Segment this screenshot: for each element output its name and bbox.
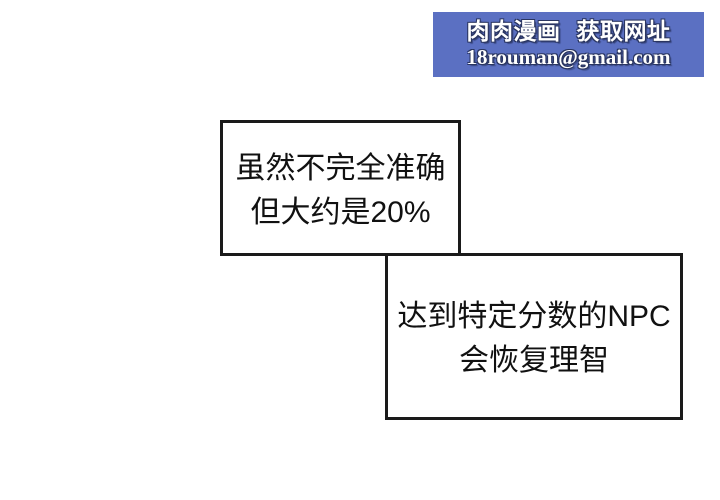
speech-bubble-1-line-1: 虽然不完全准确 [236, 147, 446, 191]
watermark-email: 18rouman@gmail.com [466, 45, 670, 70]
speech-bubble-1-line-2: 但大约是20% [250, 191, 430, 235]
comic-panel: 虽然不完全准确 但大约是20% 达到特定分数的NPC 会恢复理智 肉肉漫画 获取… [0, 0, 720, 500]
speech-bubble-2-line-1: 达到特定分数的NPC [397, 295, 670, 339]
watermark-title-left: 肉肉漫画 [467, 18, 561, 45]
speech-bubble-2-line-2: 会恢复理智 [459, 339, 609, 383]
watermark-title-right: 获取网址 [577, 18, 671, 45]
watermark-banner: 肉肉漫画 获取网址 18rouman@gmail.com [433, 12, 704, 77]
speech-bubble-1: 虽然不完全准确 但大约是20% [220, 120, 461, 256]
speech-bubble-2: 达到特定分数的NPC 会恢复理智 [385, 253, 683, 420]
watermark-title: 肉肉漫画 获取网址 [467, 18, 671, 45]
